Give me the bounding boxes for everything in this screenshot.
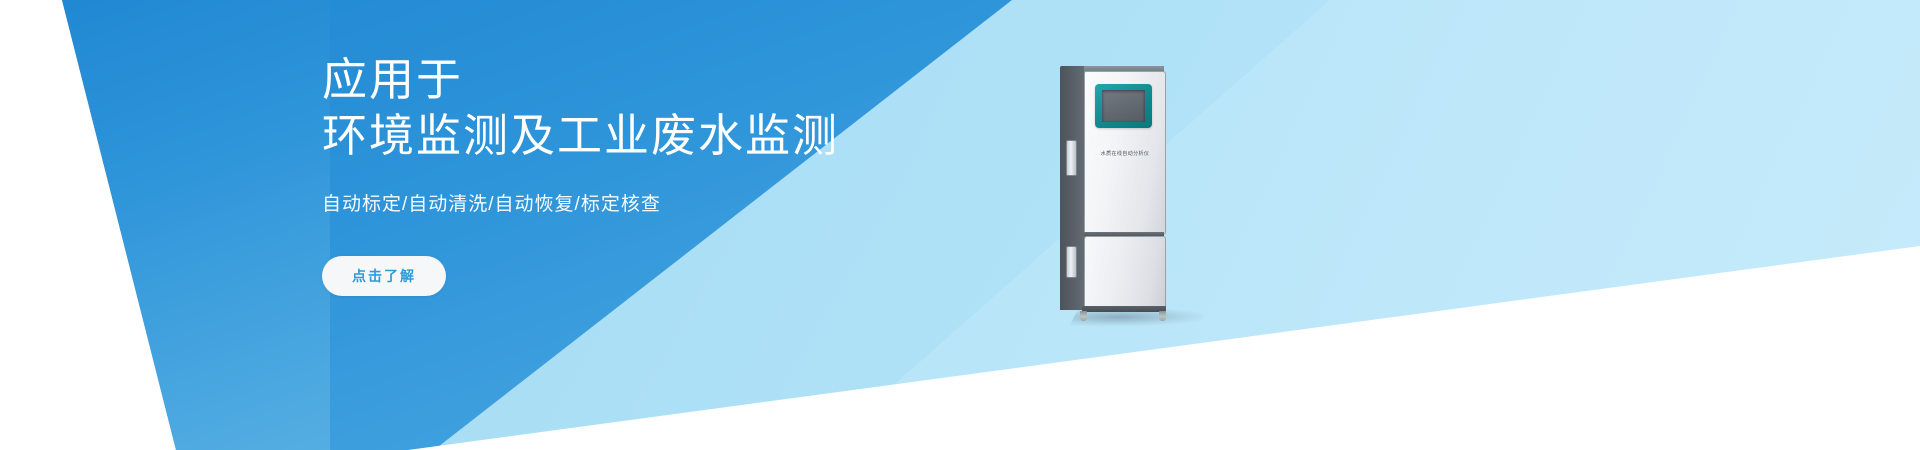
device-display-screen	[1102, 90, 1145, 122]
cta-container: 点击了解	[322, 218, 1082, 296]
water-quality-analyzer-image: 水质在线自动分析仪	[1060, 66, 1180, 316]
device-display-bezel	[1095, 84, 1152, 128]
device-upper-cabinet: 水质在线自动分析仪	[1084, 71, 1166, 235]
device-side-panel	[1060, 66, 1086, 310]
device-caster-left	[1080, 311, 1087, 321]
page-title: 应用于 环境监测及工业废水监测	[322, 0, 1082, 164]
device-base	[1082, 306, 1166, 312]
device-lower-cabinet	[1084, 236, 1166, 310]
headline-line-1: 应用于	[322, 54, 463, 105]
headline-line-2: 环境监测及工业废水监测	[322, 108, 1082, 164]
hero-banner: 应用于 环境监测及工业废水监测 自动标定/自动清洗/自动恢复/标定核查 点击了解…	[0, 0, 1920, 450]
device-label: 水质在线自动分析仪	[1085, 150, 1165, 157]
device-lower-door-handle	[1066, 246, 1077, 278]
hero-subtitle: 自动标定/自动清洗/自动恢复/标定核查	[322, 164, 1082, 218]
device-upper-door-handle	[1066, 140, 1077, 176]
learn-more-button[interactable]: 点击了解	[322, 256, 446, 296]
hero-content: 应用于 环境监测及工业废水监测 自动标定/自动清洗/自动恢复/标定核查 点击了解	[322, 0, 1082, 450]
device-caster-right	[1159, 311, 1166, 321]
